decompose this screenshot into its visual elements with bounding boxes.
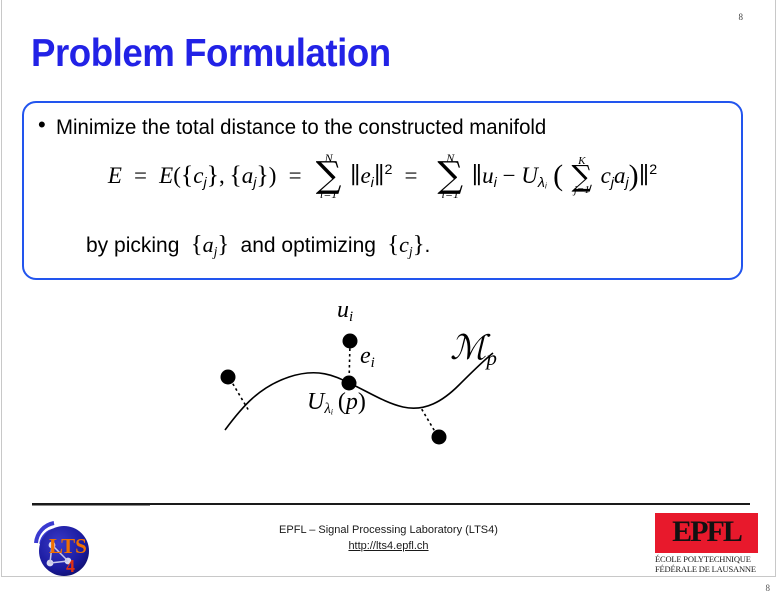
error-connector-left xyxy=(230,379,249,411)
manifold-symbol: ℳ xyxy=(450,328,486,368)
footer-page-number: 8 xyxy=(766,583,771,593)
label-projection: Uλi (p) xyxy=(307,389,366,418)
picking-middle: and optimizing xyxy=(241,234,376,257)
epfl-logo: EPFL ÉCOLE POLYTECHNIQUE FÉDÉRALE DE LAU… xyxy=(655,513,758,575)
label-ei: ei xyxy=(360,343,375,372)
lts4-logo-svg: LTS 4 xyxy=(30,515,94,581)
summation-1: N ∑ i=1 xyxy=(316,152,342,200)
bullet-marker-icon: • xyxy=(38,114,46,136)
header-page-number: 8 xyxy=(739,12,744,22)
sample-point-right xyxy=(432,430,447,445)
picking-period: . xyxy=(425,234,431,257)
manifold-svg xyxy=(197,295,587,455)
manifold-diagram: ui ei Uλi (p) ℳp xyxy=(197,295,587,455)
epfl-subtitle: ÉCOLE POLYTECHNIQUE FÉDÉRALE DE LAUSANNE xyxy=(655,554,758,575)
sample-point-left xyxy=(221,370,236,385)
footer-url-link[interactable]: http://lts4.epfl.ch xyxy=(348,540,428,552)
summation-2: N ∑ i=1 xyxy=(437,152,463,200)
picking-prefix: by picking xyxy=(86,234,179,257)
epfl-subtitle-line1: ÉCOLE POLYTECHNIQUE xyxy=(655,554,758,564)
bullet-text: Minimize the total distance to the const… xyxy=(56,116,546,140)
picking-line: by picking {aj} and optimizing {cj}. xyxy=(86,231,430,260)
sample-point-ui xyxy=(343,334,358,349)
content-box: • Minimize the total distance to the con… xyxy=(22,101,743,280)
summation-inner: K ∑ j=1 xyxy=(571,156,592,196)
bullet-row: • Minimize the total distance to the con… xyxy=(38,116,561,140)
energy-formula: E = E({cj}, {aj}) = N ∑ i=1 ∥ei∥2 = N ∑ … xyxy=(24,153,741,201)
lts4-logo: LTS 4 xyxy=(30,515,94,581)
page-title: Problem Formulation xyxy=(31,32,391,76)
lts4-text-main: LTS xyxy=(49,534,87,558)
epfl-wordmark: EPFL xyxy=(672,515,741,548)
lts4-text-number: 4 xyxy=(66,556,75,576)
label-ui: ui xyxy=(337,297,353,326)
slide-frame: 8 Problem Formulation • Minimize the tot… xyxy=(1,0,776,577)
epfl-subtitle-line2: FÉDÉRALE DE LAUSANNE xyxy=(655,564,758,574)
footer-divider xyxy=(32,503,750,505)
label-manifold: ℳp xyxy=(450,328,497,371)
manifold-subscript: p xyxy=(486,346,497,370)
